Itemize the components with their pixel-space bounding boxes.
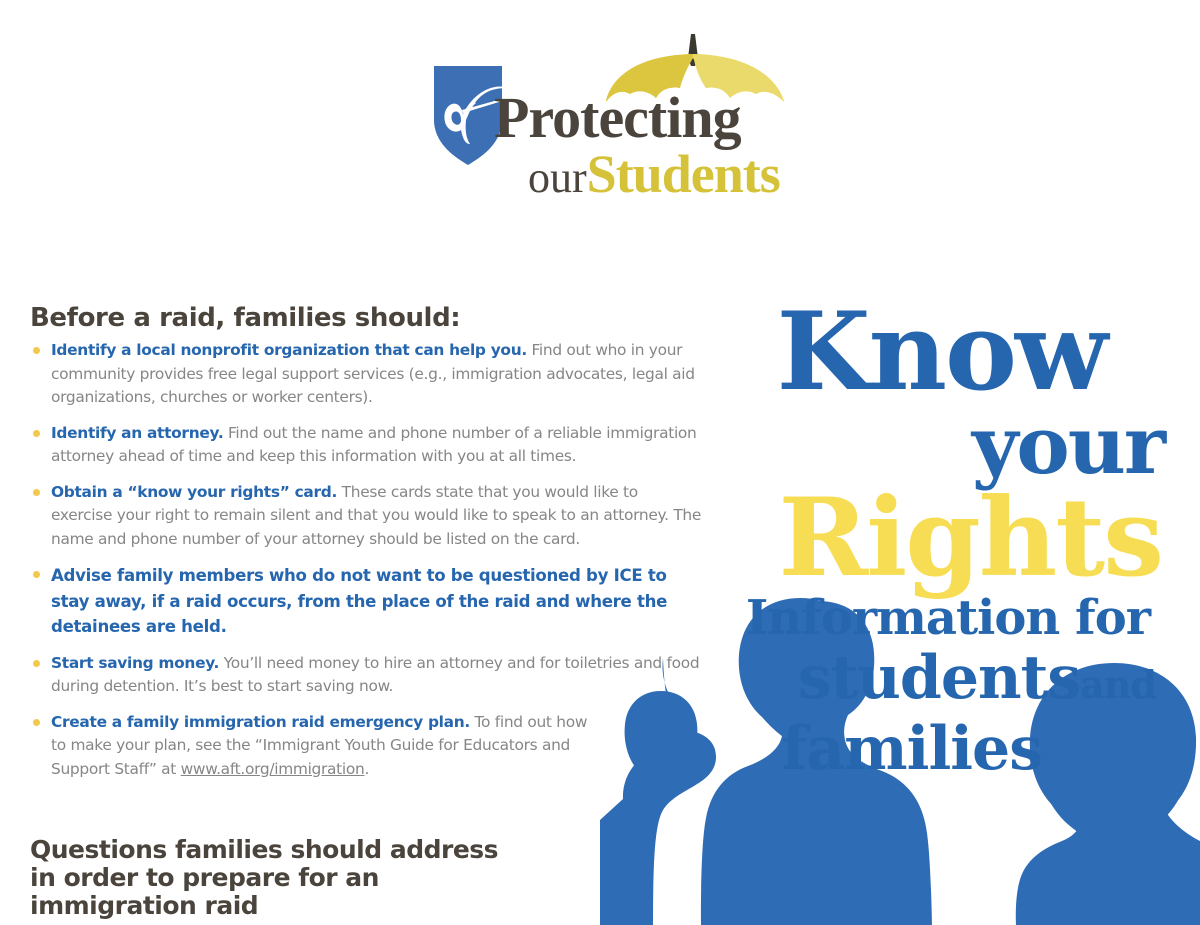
know-your-rights-headline-block: Know your Rights Information for student… (690, 300, 1170, 781)
subheadline-families: families (690, 717, 1170, 781)
logo-word-protecting: Protecting (494, 90, 794, 146)
list-item: Identify a local nonprofit organization … (30, 339, 702, 410)
subheadline-students-and: studentsand (690, 646, 1170, 717)
subheadline-information-for: Information for (690, 590, 1170, 646)
list-item-lede: Identify an attorney. (51, 424, 223, 442)
bullet-dot-icon (33, 660, 40, 667)
bullet-dot-icon (33, 571, 40, 578)
bullet-dot-icon (33, 489, 40, 496)
headline-know: Know (690, 300, 1170, 404)
bullet-dot-icon (33, 430, 40, 437)
headline-rights: Rights (690, 486, 1170, 590)
list-item-lede: Advise family members who do not want to… (51, 566, 667, 636)
before-a-raid-bullet-list: Identify a local nonprofit organization … (30, 339, 702, 781)
logo-word-students: Students (587, 144, 780, 204)
logo-word-our-students: ourStudents (494, 148, 794, 214)
list-item: Start saving money. You’ll need money to… (30, 652, 702, 699)
headline-your: your (690, 404, 1170, 486)
list-item: Obtain a “know your rights” card. These … (30, 481, 702, 552)
subheadline-and: and (1080, 662, 1156, 707)
aft-protecting-our-students-logo: Protecting ourStudents (424, 32, 784, 212)
list-item-lede: Create a family immigration raid emergen… (51, 713, 470, 731)
poster-canvas: Protecting ourStudents Before a raid, fa… (0, 0, 1200, 925)
page-title: Before a raid, families should: (30, 303, 702, 333)
list-item-lede: Obtain a “know your rights” card. (51, 483, 337, 501)
list-item: Create a family immigration raid emergen… (30, 711, 591, 782)
bullet-dot-icon (33, 347, 40, 354)
aft-immigration-link[interactable]: www.aft.org/immigration (181, 760, 365, 778)
before-a-raid-section: Before a raid, families should: Identify… (30, 303, 702, 781)
list-item-body-after: . (364, 760, 369, 778)
list-item: Identify an attorney. Find out the name … (30, 422, 702, 469)
logo-word-our: our (528, 153, 587, 202)
logo-wordmark: Protecting ourStudents (494, 90, 794, 214)
questions-section-heading: Questions families should address in ord… (30, 836, 500, 920)
list-item-lede: Identify a local nonprofit organization … (51, 341, 527, 359)
bullet-dot-icon (33, 719, 40, 726)
list-item: Advise family members who do not want to… (30, 563, 702, 640)
list-item-lede: Start saving money. (51, 654, 219, 672)
subheadline-students: students (798, 643, 1080, 713)
